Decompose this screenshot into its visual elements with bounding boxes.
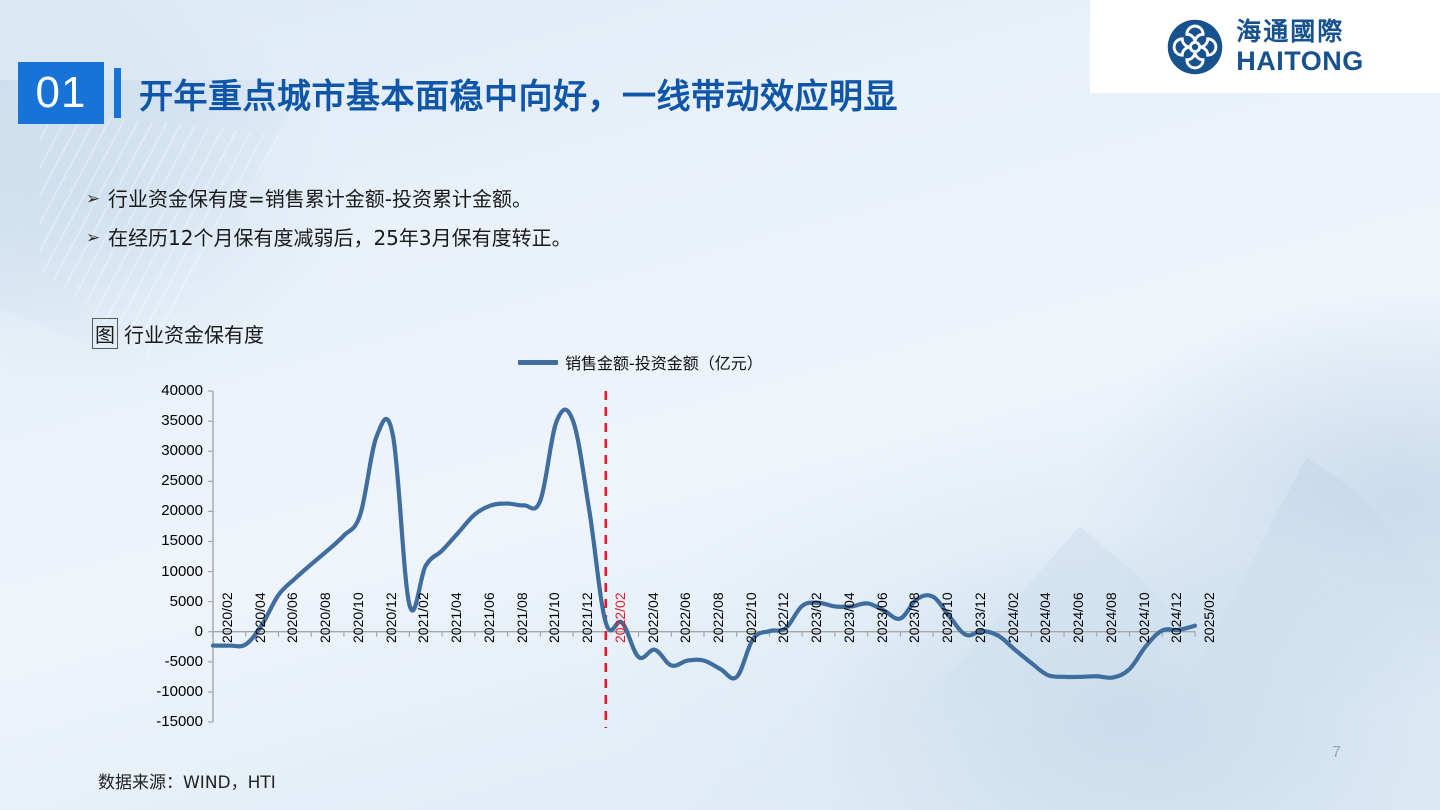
y-axis-label: 0	[125, 623, 203, 640]
x-axis-label: 2024/12	[1168, 592, 1184, 643]
x-axis-label: 2023/12	[972, 592, 988, 643]
data-series-line	[213, 410, 1195, 679]
x-axis-label: 2021/12	[579, 592, 595, 643]
bullet-arrow-icon: ➢	[86, 225, 108, 251]
x-axis-label: 2022/08	[710, 592, 726, 643]
bullet-list: ➢ 行业资金保有度=销售累计金额-投资累计金额。 ➢ 在经历12个月保有度减弱后…	[86, 186, 986, 264]
x-axis-label: 2023/08	[906, 592, 922, 643]
x-axis-label: 2023/06	[874, 592, 890, 643]
slide-root: 海通國際 HAITONG 01 开年重点城市基本面稳中向好，一线带动效应明显 ➢…	[0, 0, 1440, 810]
x-axis-label: 2023/02	[808, 592, 824, 643]
y-axis-label: 5000	[125, 593, 203, 610]
x-axis-label: 2024/10	[1136, 592, 1152, 643]
bullet-arrow-icon: ➢	[86, 186, 108, 212]
page-title: 开年重点城市基本面稳中向好，一线带动效应明显	[139, 69, 898, 118]
x-axis-label: 2021/02	[415, 592, 431, 643]
x-axis-label: 2021/04	[448, 592, 464, 643]
y-axis-label: -10000	[125, 683, 203, 700]
y-axis-label: 20000	[125, 502, 203, 519]
x-axis-label: 2023/04	[841, 592, 857, 643]
bullet-text: 行业资金保有度=销售累计金额-投资累计金额。	[108, 186, 532, 212]
y-axis-label: 25000	[125, 472, 203, 489]
background-mountain-shape	[860, 390, 1440, 810]
source-note: 数据来源：WIND，HTI	[98, 768, 276, 793]
slide-header: 01 开年重点城市基本面稳中向好，一线带动效应明显	[18, 62, 898, 124]
list-item: ➢ 在经历12个月保有度减弱后，25年3月保有度转正。	[86, 225, 986, 251]
x-axis-label: 2025/02	[1201, 592, 1217, 643]
title-accent-bar	[114, 68, 121, 118]
list-item: ➢ 行业资金保有度=销售累计金额-投资累计金额。	[86, 186, 986, 212]
y-axis-label: 35000	[125, 412, 203, 429]
x-axis-label: 2022/06	[677, 592, 693, 643]
y-axis-label: -15000	[125, 713, 203, 730]
figure-title: 行业资金保有度	[124, 323, 264, 347]
brand-logo: 海通國際 HAITONG	[1090, 0, 1440, 93]
y-axis-label: 40000	[125, 382, 203, 399]
x-axis-label: 2021/10	[546, 592, 562, 643]
x-axis-label: 2020/02	[219, 592, 235, 643]
x-axis-label: 2020/06	[284, 592, 300, 643]
section-number-badge: 01	[18, 62, 104, 124]
x-axis-label: 2022/10	[743, 592, 759, 643]
x-axis-label: 2024/06	[1070, 592, 1086, 643]
x-axis-label: 2022/12	[775, 592, 791, 643]
page-number: 7	[1332, 744, 1341, 762]
chart-caption: 图行业资金保有度	[92, 318, 264, 349]
y-axis-label: -5000	[125, 653, 203, 670]
y-axis-label: 30000	[125, 442, 203, 459]
y-axis-label: 15000	[125, 532, 203, 549]
chart-legend: 销售金额-投资金额（亿元）	[518, 350, 763, 374]
legend-label: 销售金额-投资金额（亿元）	[565, 350, 763, 374]
x-axis-label: 2020/08	[317, 592, 333, 643]
logo-english-name: HAITONG	[1236, 48, 1364, 75]
x-axis-label: 2020/04	[252, 592, 268, 643]
x-axis-label: 2022/04	[645, 592, 661, 643]
x-axis-label: 2021/08	[514, 592, 530, 643]
x-axis-label: 2024/02	[1005, 592, 1021, 643]
x-axis-label: 2024/08	[1103, 592, 1119, 643]
haitong-emblem-icon	[1166, 18, 1224, 76]
logo-chinese-name: 海通國際	[1236, 19, 1364, 44]
x-axis-label: 2024/04	[1037, 592, 1053, 643]
x-axis-label: 2020/10	[350, 592, 366, 643]
figure-tag: 图	[92, 318, 118, 349]
x-axis-label: 2022/02	[612, 592, 628, 643]
background-mountain-shape-secondary	[830, 480, 1350, 810]
x-axis-label: 2021/06	[481, 592, 497, 643]
legend-swatch-icon	[518, 360, 558, 365]
x-axis-label: 2023/10	[939, 592, 955, 643]
x-axis-label: 2020/12	[383, 592, 399, 643]
y-axis-label: 10000	[125, 563, 203, 580]
bullet-text: 在经历12个月保有度减弱后，25年3月保有度转正。	[108, 225, 572, 251]
